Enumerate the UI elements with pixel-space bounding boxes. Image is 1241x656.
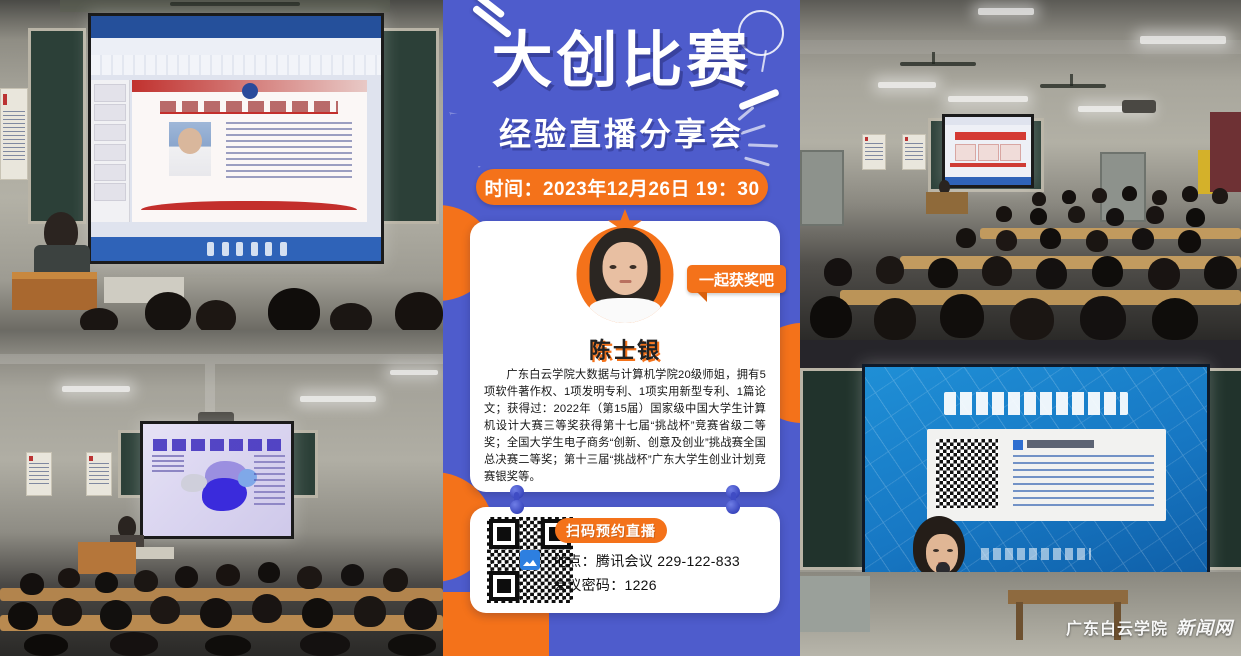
ceiling-pipe bbox=[0, 354, 443, 364]
screen-slide-canvas bbox=[143, 424, 291, 536]
audience-head bbox=[1122, 186, 1137, 201]
slide-emblem bbox=[242, 83, 258, 99]
audience-head bbox=[1062, 190, 1076, 204]
audience-head bbox=[1010, 298, 1054, 340]
screen-slide-panel bbox=[91, 80, 130, 222]
audience-head bbox=[145, 292, 191, 330]
audience-head bbox=[996, 206, 1012, 222]
audience-head bbox=[297, 566, 322, 589]
audience-head bbox=[1146, 206, 1164, 224]
audience-head bbox=[1086, 230, 1108, 252]
audience-head bbox=[258, 562, 280, 583]
pin-decoration bbox=[510, 500, 524, 514]
audience-head bbox=[404, 598, 437, 630]
audience-head bbox=[1092, 188, 1107, 203]
audience-head bbox=[80, 308, 118, 330]
audience-head bbox=[1040, 228, 1061, 249]
audience-head bbox=[205, 635, 251, 656]
audience-head bbox=[1036, 258, 1067, 289]
audience-head bbox=[1204, 256, 1237, 289]
screen-title-bar bbox=[91, 16, 381, 38]
podium-top bbox=[12, 272, 97, 279]
audience-head bbox=[1182, 186, 1198, 202]
audience-head bbox=[874, 298, 916, 340]
slide-heading bbox=[160, 101, 339, 112]
audience-head bbox=[810, 296, 852, 338]
ceiling-fan bbox=[1040, 84, 1106, 88]
door bbox=[800, 150, 844, 226]
slide-divider bbox=[160, 112, 339, 114]
screen-taskbar bbox=[91, 237, 381, 262]
audience-head bbox=[928, 258, 958, 288]
audience-head bbox=[52, 598, 82, 626]
audience-head bbox=[100, 600, 132, 630]
avatar-eye bbox=[609, 265, 616, 269]
audience-head bbox=[876, 256, 904, 284]
slide-portrait bbox=[169, 122, 211, 176]
screen-taskbar bbox=[945, 177, 1031, 185]
ceiling-fan-stem bbox=[932, 52, 935, 64]
audience-head bbox=[388, 634, 436, 656]
decor-ray bbox=[744, 156, 770, 166]
curtain bbox=[1210, 112, 1241, 192]
wall-notice bbox=[862, 134, 886, 170]
event-time-badge: 时间：2023年12月26日 19：30 bbox=[476, 169, 768, 205]
presenter-eye bbox=[947, 549, 953, 552]
screen-slide-canvas bbox=[945, 117, 1031, 185]
photo-bottom-left: 阶梯教室里听讲的学生与投影幕布 bbox=[0, 330, 443, 656]
slide-body-text bbox=[254, 455, 285, 509]
slide-band bbox=[950, 163, 1026, 167]
avatar-face bbox=[603, 242, 648, 294]
qr-finder bbox=[489, 519, 519, 549]
audience-head bbox=[302, 598, 333, 628]
poster-title: 大创比赛 bbox=[443, 30, 800, 91]
audience-head bbox=[196, 300, 236, 330]
audience-head bbox=[354, 596, 386, 627]
event-poster: 大创比赛 经验直播分享会 时间：2023年12月26日 19：30 陈士银 广东… bbox=[443, 0, 800, 656]
projection-screen-top-left bbox=[88, 13, 384, 264]
photo-bottom-right: 手持话筒的主持人与蓝色背景的工作室介绍幻灯片 bbox=[800, 340, 1241, 656]
audience-head bbox=[956, 228, 976, 248]
audience-head bbox=[268, 288, 320, 330]
slide-footer bbox=[981, 548, 1090, 560]
slide-content-card bbox=[927, 429, 1166, 521]
audience-head bbox=[1106, 208, 1124, 226]
slide-heading bbox=[153, 439, 280, 451]
ceiling-light bbox=[978, 8, 1034, 15]
audience-head bbox=[1132, 228, 1154, 250]
audience-head bbox=[982, 256, 1012, 286]
audience-head bbox=[330, 303, 372, 330]
watermark: 广东白云学院 新闻网 bbox=[1066, 614, 1233, 640]
presenter-eye bbox=[933, 549, 939, 552]
audience-head bbox=[996, 230, 1017, 251]
audience-head bbox=[150, 596, 180, 624]
projector bbox=[1122, 100, 1156, 113]
ceiling-light bbox=[1140, 36, 1226, 44]
meeting-location: 地点：腾讯会议 229-122-833 bbox=[553, 551, 740, 571]
slide-subheading bbox=[1027, 440, 1094, 447]
audience-head bbox=[1212, 188, 1228, 204]
audience-head bbox=[95, 572, 118, 593]
ceiling-fan bbox=[170, 2, 300, 6]
slide-body-text bbox=[1013, 455, 1154, 506]
audience-head bbox=[1186, 208, 1205, 227]
blackboard-left bbox=[28, 28, 86, 224]
audience-head bbox=[341, 564, 364, 586]
ceiling-light bbox=[62, 386, 130, 392]
desk-row bbox=[980, 228, 1241, 239]
pin-decoration bbox=[726, 500, 740, 514]
scan-to-book-label: 扫码预约直播 bbox=[555, 518, 667, 543]
audience-head bbox=[8, 602, 38, 630]
screen-slide-canvas bbox=[132, 80, 367, 222]
slide-body-text bbox=[226, 122, 353, 179]
poster-subtitle: 经验直播分享会 bbox=[443, 118, 800, 150]
podium bbox=[78, 542, 136, 574]
qr-logo-icon bbox=[520, 550, 540, 570]
photo-top-right: 满座的阶梯教室全景与前方投影屏 bbox=[800, 0, 1241, 340]
audience-head bbox=[940, 294, 984, 338]
audience-head bbox=[24, 634, 68, 656]
blackboard-left bbox=[800, 368, 866, 570]
watermark-institution: 广东白云学院 bbox=[1066, 615, 1168, 639]
ceiling-fan-stem bbox=[1070, 74, 1073, 86]
slide-box bbox=[1000, 144, 1021, 161]
audience-head bbox=[395, 292, 443, 330]
audience-head bbox=[175, 566, 198, 588]
ceiling-light bbox=[948, 96, 1028, 102]
slide-bottom-band bbox=[141, 201, 357, 211]
table bbox=[136, 547, 174, 559]
audience-head bbox=[383, 568, 408, 592]
wall-notice bbox=[86, 452, 112, 496]
audience-head bbox=[1152, 298, 1198, 340]
slide-body-text bbox=[152, 455, 185, 473]
watermark-site: 新闻网 bbox=[1176, 614, 1233, 640]
ceiling-fan bbox=[900, 62, 976, 66]
qr-code bbox=[936, 439, 998, 509]
audience-head bbox=[1030, 208, 1047, 225]
ceiling-light bbox=[300, 396, 376, 402]
slide-box bbox=[978, 144, 999, 161]
avatar-mouth bbox=[619, 280, 631, 283]
audience-head bbox=[1080, 296, 1126, 340]
audience-head bbox=[1152, 190, 1167, 205]
speaker-bio: 广东白云学院大数据与计算机学院20级师姐，拥有5项软件著作权、1项发明专利、1项… bbox=[484, 367, 766, 486]
audience-head bbox=[20, 573, 44, 595]
slide-heading bbox=[955, 132, 1026, 140]
wall-notice bbox=[26, 452, 52, 496]
speaker-avatar bbox=[577, 226, 674, 323]
audience-head bbox=[1032, 192, 1046, 206]
audience-head bbox=[1178, 230, 1201, 253]
slide-heading bbox=[944, 392, 1129, 415]
podium bbox=[926, 192, 968, 214]
audience-head bbox=[134, 570, 158, 592]
meeting-password: 会议密码：1226 bbox=[553, 575, 657, 595]
screen-toolbar bbox=[945, 117, 1031, 125]
audience-head bbox=[58, 568, 80, 588]
screen-ribbon bbox=[91, 55, 381, 75]
avatar-eye bbox=[630, 265, 637, 269]
wall-notice bbox=[902, 134, 926, 170]
speaker-name: 陈士银 bbox=[470, 333, 780, 365]
chair bbox=[800, 576, 870, 632]
audience-head bbox=[1068, 206, 1085, 223]
audience-head bbox=[200, 598, 232, 628]
badge-win-together: 一起获奖吧 bbox=[687, 265, 786, 293]
speaker-profile-card: 陈士银 广东白云学院大数据与计算机学院20级师姐，拥有5项软件著作权、1项发明专… bbox=[470, 221, 780, 492]
screenshot-canvas: 教室讲台前的主讲人与投影幕布上的演示文稿 bbox=[0, 0, 1241, 656]
qr-finder bbox=[489, 571, 519, 601]
table-leg bbox=[1016, 602, 1023, 640]
avatar-shirt bbox=[589, 298, 661, 323]
blackboard-right bbox=[378, 28, 439, 224]
ceiling-light bbox=[390, 370, 438, 375]
projection-screen-top-right bbox=[942, 114, 1034, 188]
audience-head bbox=[216, 564, 240, 586]
slide-logo bbox=[1013, 440, 1023, 450]
slide-box bbox=[955, 144, 976, 161]
table bbox=[1008, 590, 1128, 604]
screen-tab-bar bbox=[91, 38, 381, 56]
audience-head bbox=[1148, 258, 1180, 290]
projection-screen-bottom-left bbox=[140, 421, 294, 539]
audience-head bbox=[1092, 256, 1123, 287]
audience-head bbox=[252, 594, 282, 623]
audience-head bbox=[824, 258, 852, 286]
ceiling-light bbox=[878, 82, 936, 88]
photo-top-left: 教室讲台前的主讲人与投影幕布上的演示文稿 bbox=[0, 0, 443, 330]
audience-head bbox=[300, 632, 350, 656]
audience-head bbox=[110, 632, 158, 656]
wall-notice bbox=[0, 88, 28, 180]
